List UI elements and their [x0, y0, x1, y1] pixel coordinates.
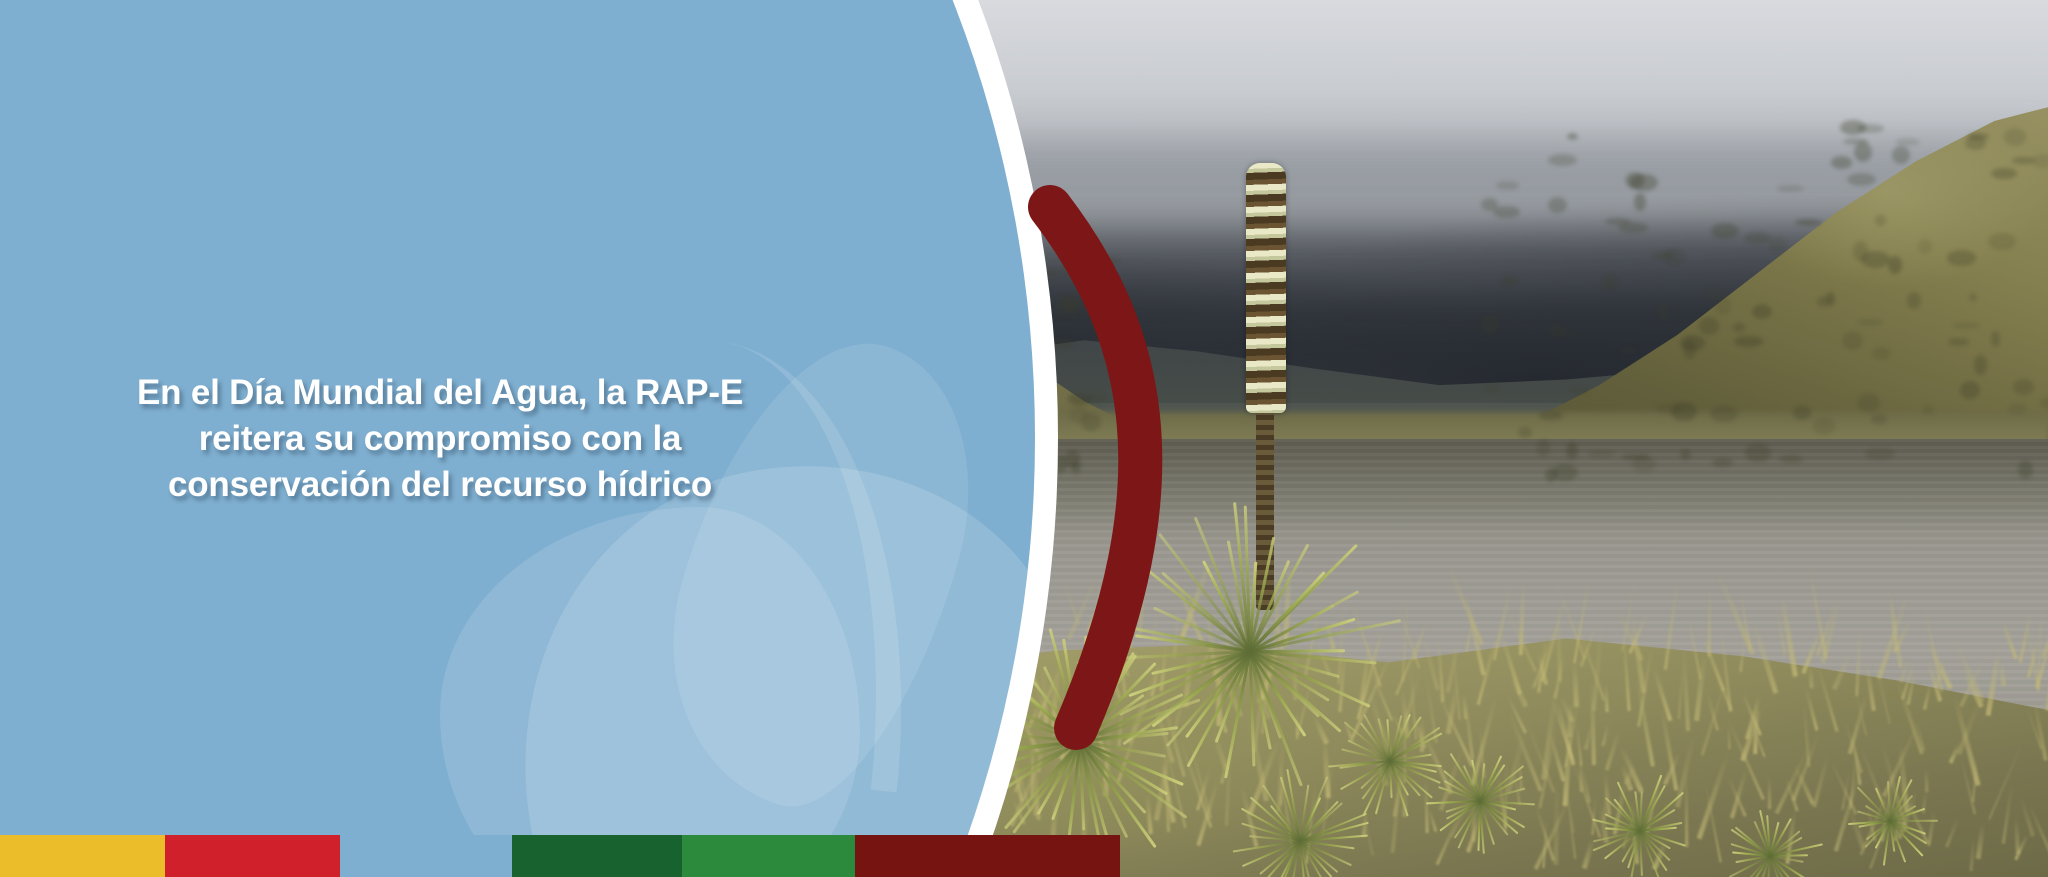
- rosette-plant: [1844, 774, 1936, 866]
- scrub-bush: [1974, 355, 1987, 374]
- scrub-bush: [1652, 252, 1673, 259]
- scrub-bush: [1947, 250, 1977, 265]
- scrub-bush: [1865, 448, 1895, 459]
- scrub-bush: [1671, 402, 1697, 421]
- scrub-bush: [1892, 146, 1910, 164]
- scrub-bush: [2008, 403, 2027, 415]
- scrub-bush: [1733, 323, 1745, 332]
- scrub-bush: [1907, 292, 1921, 309]
- scrub-bush: [1952, 322, 1981, 329]
- scrub-bush: [1793, 406, 1811, 419]
- scrub-bush: [1854, 142, 1872, 161]
- scrub-bush: [1769, 236, 1786, 254]
- scrub-bush: [1871, 414, 1887, 423]
- scrub-bush: [1843, 138, 1868, 145]
- scrub-bush: [1548, 154, 1576, 166]
- page-title: En el Día Mundial del Agua, la RAP-E rei…: [0, 370, 880, 509]
- headline-line-1: En el Día Mundial del Agua, la RAP-E: [40, 370, 840, 416]
- color-bar-segment-yellow: [0, 835, 165, 877]
- scrub-bush: [1680, 335, 1705, 351]
- scrub-bush: [1567, 133, 1578, 140]
- color-bar-segment-red: [165, 835, 340, 877]
- scrub-bush: [1991, 331, 2000, 347]
- scrub-bush: [1621, 454, 1650, 460]
- scrub-bush: [1752, 304, 1772, 319]
- headline-line-2: reitera su compromiso con la: [40, 416, 840, 462]
- rosette-plant: [1425, 745, 1535, 855]
- scrub-bush: [1588, 450, 1614, 457]
- scrub-bush: [1840, 120, 1866, 135]
- scrub-bush: [1969, 293, 1977, 302]
- color-bar-segment-light-green: [682, 835, 855, 877]
- red-crescent-arc: [998, 185, 1198, 750]
- scrub-bush: [1570, 386, 1588, 394]
- color-bar-segment-blue-gap: [340, 835, 512, 877]
- puya-flower-spike: [1246, 163, 1286, 413]
- rosette-plant: [1582, 772, 1698, 877]
- water-day-banner: En el Día Mundial del Agua, la RAP-E rei…: [0, 0, 2048, 877]
- scrub-bush: [1826, 292, 1835, 306]
- scrub-bush: [1710, 406, 1738, 422]
- scrub-bush: [1548, 197, 1567, 213]
- scrub-bush: [1493, 206, 1520, 218]
- scrub-bush: [1875, 215, 1886, 226]
- scrub-bush: [1842, 331, 1863, 350]
- scrub-bush: [1895, 138, 1920, 146]
- scrub-bush: [2012, 157, 2035, 164]
- scrub-bush: [1711, 223, 1739, 240]
- scrub-bush: [1699, 317, 1719, 335]
- scrub-bush: [1634, 193, 1646, 211]
- scrub-bush: [1745, 443, 1771, 463]
- scrub-bush: [1991, 168, 2017, 180]
- scrub-bush: [2013, 379, 2034, 395]
- brand-color-bar: [0, 835, 1120, 877]
- rosette-plant: [1230, 770, 1370, 877]
- scrub-bush: [2018, 460, 2033, 480]
- scrub-bush: [1602, 274, 1618, 290]
- grass-blade: [1707, 585, 1710, 657]
- scrub-bush: [1872, 347, 1891, 360]
- scrub-bush: [2004, 128, 2027, 146]
- scrub-bush: [1960, 381, 1980, 399]
- scrub-bush: [1501, 276, 1519, 286]
- scrub-bush: [1968, 133, 1989, 141]
- scrub-bush: [1948, 338, 1969, 346]
- rosette-plant: [1718, 803, 1822, 877]
- scrub-bush: [1680, 449, 1691, 460]
- color-bar-segment-dark-green: [512, 835, 682, 877]
- scrub-bush: [1658, 302, 1669, 320]
- scrub-bush: [1813, 417, 1835, 435]
- scrub-bush: [1795, 219, 1822, 226]
- scrub-bush: [1704, 286, 1722, 301]
- headline-line-3: conservación del recurso hídrico: [40, 462, 840, 508]
- color-bar-segment-dark-red: [855, 835, 1120, 877]
- scrub-bush: [1988, 233, 2016, 249]
- scrub-bush: [1496, 181, 1519, 189]
- scrub-bush: [1831, 156, 1851, 168]
- wave-watermark-2: [440, 507, 860, 877]
- scrub-bush: [1847, 173, 1876, 186]
- scrub-bush: [1485, 384, 1501, 394]
- scrub-bush: [1630, 174, 1658, 192]
- scrub-bush: [1481, 314, 1500, 334]
- scrub-bush: [1605, 218, 1632, 225]
